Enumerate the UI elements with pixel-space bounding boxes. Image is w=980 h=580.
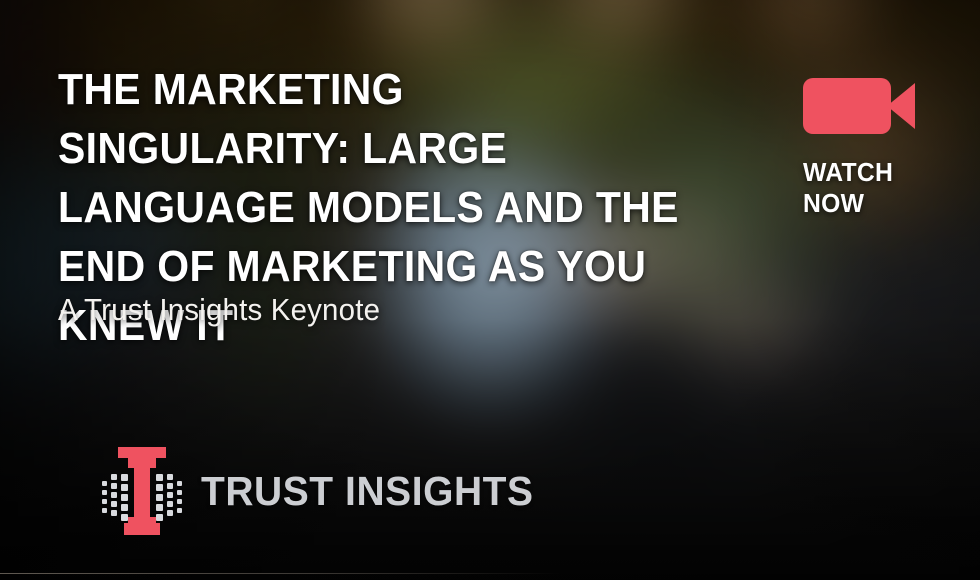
trust-insights-pillar-icon — [100, 447, 184, 535]
video-camera-icon[interactable] — [803, 78, 933, 134]
subtitle: A Trust Insights Keynote — [58, 289, 380, 331]
watch-now-label: Watch Now — [803, 157, 936, 219]
keynote-video-card: The Marketing Singularity: Large Languag… — [0, 0, 980, 580]
watch-now-button[interactable]: Watch Now — [803, 78, 943, 219]
card-content: The Marketing Singularity: Large Languag… — [0, 0, 980, 580]
trust-insights-logo[interactable]: Trust Insights — [100, 447, 551, 535]
trust-insights-wordmark: Trust Insights — [201, 471, 534, 512]
video-camera-body-icon — [803, 78, 891, 134]
video-camera-lens-icon — [887, 83, 915, 129]
